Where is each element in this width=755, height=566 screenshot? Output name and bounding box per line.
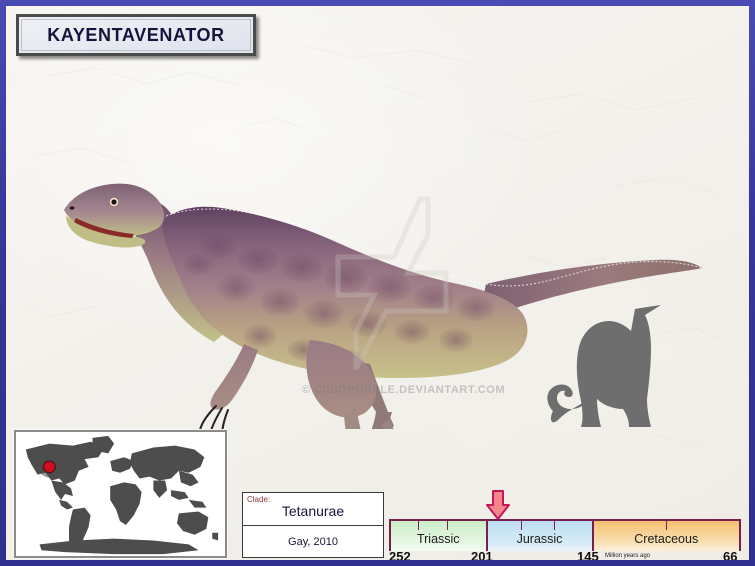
screenshot-root: KAYENTAVENATOR [0, 0, 755, 566]
cat-silhouette-scale [539, 291, 669, 431]
geologic-timeline-chart: Triassic Jurassic Cretaceous 252 201 145… [389, 489, 741, 559]
timeline-minor-tick [666, 521, 667, 530]
timeline-minor-tick [554, 521, 555, 530]
timeline-period-jurassic: Jurassic [486, 521, 592, 551]
title-plate: KAYENTAVENATOR [16, 14, 256, 56]
illustration-canvas: KAYENTAVENATOR [6, 6, 749, 560]
timeline-bar: Triassic Jurassic Cretaceous [389, 519, 741, 549]
timeline-period-label: Triassic [391, 532, 486, 546]
page-title: KAYENTAVENATOR [47, 25, 224, 46]
timeline-tick-201: 201 [471, 549, 493, 560]
timeline-minor-tick [447, 521, 448, 530]
clade-value: Tetanurae [243, 503, 383, 519]
dino-hand-claws [200, 406, 228, 429]
timeline-period-triassic: Triassic [389, 521, 486, 551]
timeline-minor-tick [418, 521, 419, 530]
timeline-unit-label: Million years ago [605, 553, 650, 559]
timeline-tick-66: 66 [723, 549, 737, 560]
clade-info-box: Clade: Tetanurae Gay, 2010 [242, 492, 384, 558]
map-marker [43, 461, 55, 473]
clade-author: Gay, 2010 [243, 526, 383, 558]
dino-arm [210, 344, 258, 410]
timeline-period-label: Jurassic [488, 532, 592, 546]
cat-icon [577, 305, 661, 427]
timeline-period-label: Cretaceous [594, 532, 739, 546]
occurrence-arrow-icon [485, 490, 511, 520]
dino-nostril [70, 207, 75, 210]
clade-row: Clade: Tetanurae [243, 493, 383, 526]
world-map [16, 432, 225, 556]
timeline-tick-145: 145 [577, 549, 599, 560]
timeline-tick-252: 252 [389, 549, 411, 560]
dino-pupil [111, 199, 116, 204]
timeline-minor-tick [521, 521, 522, 530]
world-map-box [14, 430, 227, 558]
timeline-period-cretaceous: Cretaceous [592, 521, 741, 551]
